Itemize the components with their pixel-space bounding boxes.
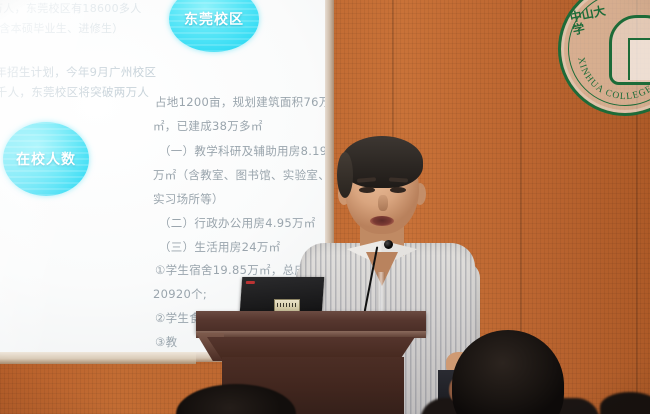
- slide-body-line-7: （三）生活用房24万㎡: [159, 239, 280, 255]
- emblem-english-arc: XINHUA COLLEGE OF SUN YAT-SEN UNIVERSITY: [566, 0, 650, 108]
- svg-text:XINHUA COLLEGE OF SUN YAT-SEN: XINHUA COLLEGE OF SUN YAT-SEN UNIVERSITY: [566, 0, 650, 102]
- slide-body-line-1: 占地1200亩，规划建筑面积76万: [155, 94, 325, 110]
- slide-body-line-4: 万㎡（含教室、图书馆、实验室、: [153, 167, 325, 183]
- slide-body-line-8: ①学生宿舍19.85万㎡，总床位: [155, 262, 318, 278]
- speaker-hair: [341, 136, 423, 188]
- slide-body-line-5: 实习场所等）: [153, 191, 224, 207]
- badge-label: 东莞校区: [184, 9, 244, 29]
- speaker-eye-left: [359, 187, 375, 193]
- badge-dongguan-campus: 东莞校区: [169, 0, 259, 52]
- photo-scene: 中山大学 XINHUA COLLEGE OF SUN YAT-SEN UNIVE…: [0, 0, 650, 414]
- speaker-sideburn: [337, 152, 353, 198]
- slide-body-line-6: （二）行政办公用房4.95万㎡: [159, 215, 316, 231]
- microphone-head-icon: [384, 240, 393, 249]
- slide-top-line-1: 万人，东莞校区有18600多人: [0, 0, 142, 16]
- speaker-mouth: [370, 216, 394, 226]
- wall-ledge-trim: [0, 352, 196, 364]
- slide-top-line-4: 四千人，东莞校区将突破两万人: [0, 84, 149, 100]
- slide-body-line-2: ㎡，已建成38万多㎡: [153, 118, 263, 134]
- badge-label: 在校人数: [16, 149, 76, 169]
- badge-student-count: 在校人数: [3, 122, 89, 196]
- podium-bevel: [207, 337, 415, 359]
- podium-top-edge: [196, 331, 426, 338]
- laptop-brand-dot-icon: [246, 281, 255, 284]
- speaker-eye-right: [390, 187, 406, 193]
- slide-top-line-3: 18年招生计划，今年9月广州校区: [0, 64, 156, 80]
- speaker-nose: [378, 195, 388, 211]
- slide-body-line-9: 20920个;: [153, 286, 207, 302]
- slide-top-line-2: （含本硕毕业生、进修生）: [0, 20, 124, 36]
- university-emblem: 中山大学 XINHUA COLLEGE OF SUN YAT-SEN UNIVE…: [558, 0, 650, 116]
- slide-body-line-3: （一）教学科研及辅助用房8.19: [159, 143, 325, 159]
- slide-body-line-11: ③教: [155, 334, 177, 350]
- podium-top: [196, 311, 426, 333]
